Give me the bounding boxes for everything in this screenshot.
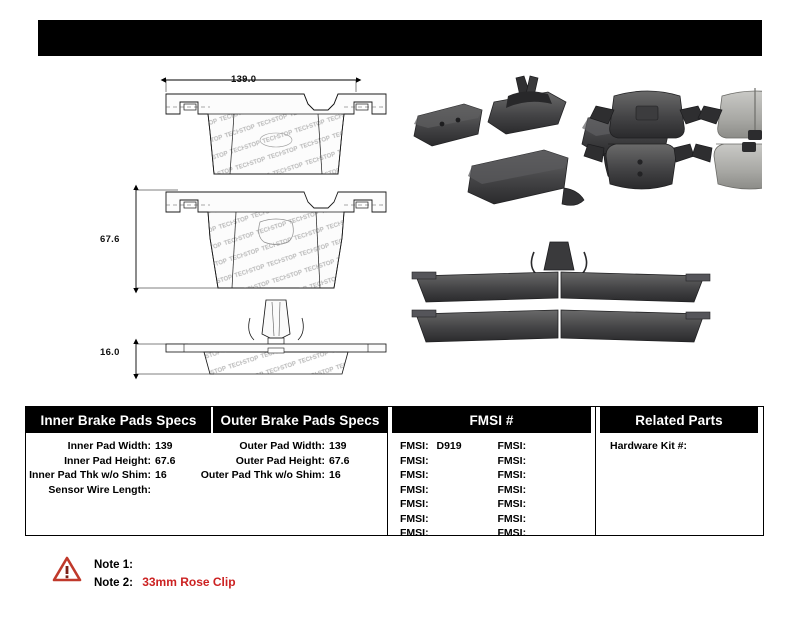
- spec-label: Inner Pad Height:: [64, 454, 151, 469]
- fmsi-row: FMSI:: [400, 468, 498, 483]
- fmsi-label: FMSI:: [400, 440, 429, 452]
- spec-label: Inner Pad Width:: [68, 439, 151, 454]
- spec-row: Outer Pad Height: 67.6: [213, 454, 387, 469]
- fmsi-value: [526, 527, 531, 539]
- fmsi-label: FMSI:: [498, 498, 527, 510]
- brake-pad-blueprint-svg: STOP TECH: [38, 62, 398, 392]
- product-type: Brake Pad: [675, 29, 750, 47]
- fmsi-row: FMSI:: [498, 439, 596, 454]
- outer-specs-header: Outer Brake Pads Specs: [213, 407, 387, 433]
- note-value: 33mm Rose Clip: [136, 575, 235, 589]
- fmsi-label: FMSI:: [400, 498, 429, 510]
- fmsi-row: FMSI:: [498, 468, 596, 483]
- fmsi-subcolumn-2: FMSI: FMSI: FMSI: FMSI: FMSI:: [498, 439, 596, 541]
- spec-row: Inner Pad Width: 139: [26, 439, 213, 454]
- note-label: Note 1:: [94, 559, 133, 571]
- dimension-height-label: 67.6: [100, 234, 120, 245]
- related-part-row: Hardware Kit #:: [610, 439, 762, 454]
- product-photos: [398, 62, 762, 392]
- related-parts-header: Related Parts: [600, 407, 758, 433]
- fmsi-row: FMSI:: [400, 526, 498, 541]
- fmsi-label: FMSI:: [400, 484, 429, 496]
- fmsi-label: FMSI:: [400, 469, 429, 481]
- fmsi-subcolumn-1: FMSI: D919 FMSI: FMSI: FMSI: FMSI:: [400, 439, 498, 541]
- specifications-table: Inner Brake Pads Specs Inner Pad Width: …: [25, 406, 764, 536]
- fmsi-label: FMSI:: [400, 527, 429, 539]
- spec-label: Sensor Wire Length:: [48, 483, 151, 498]
- related-part-label: Hardware Kit #:: [610, 440, 687, 452]
- spec-value: 67.6: [325, 454, 351, 469]
- fmsi-grid: FMSI: D919 FMSI: FMSI: FMSI: FMSI:: [388, 433, 595, 541]
- warning-triangle-icon: [52, 554, 82, 584]
- spec-value: 139: [325, 439, 351, 454]
- outer-specs-body: Outer Pad Width: 139 Outer Pad Height: 6…: [213, 433, 387, 483]
- fmsi-value: [526, 455, 531, 467]
- spec-row: Inner Pad Thk w/o Shim: 16: [26, 468, 213, 483]
- product-photos-svg: [398, 62, 762, 392]
- fmsi-row: FMSI:: [400, 483, 498, 498]
- spec-value: [151, 483, 177, 498]
- wear-sensor-clip: [249, 300, 304, 344]
- title-bar: 309.09190 Brake Pad: [38, 20, 762, 56]
- fmsi-value: [429, 513, 434, 525]
- spec-row: Inner Pad Height: 67.6: [26, 454, 213, 469]
- note-value: [133, 557, 139, 571]
- fmsi-value: [429, 484, 434, 496]
- spec-value: 16: [151, 468, 177, 483]
- fmsi-label: FMSI:: [498, 455, 527, 467]
- spec-value: 139: [151, 439, 177, 454]
- fmsi-row: FMSI:: [498, 497, 596, 512]
- notes-section: Note 1: Note 2: 33mm Rose Clip: [52, 554, 236, 592]
- note-label: Note 2:: [94, 577, 133, 589]
- fmsi-value: [526, 513, 531, 525]
- dimension-width-label: 139.0: [231, 74, 256, 85]
- fmsi-label: FMSI:: [498, 469, 527, 481]
- spec-row: Sensor Wire Length:: [26, 483, 213, 498]
- note-row-2: Note 2: 33mm Rose Clip: [94, 574, 236, 592]
- fmsi-value: [429, 498, 434, 510]
- inner-specs-column: Inner Brake Pads Specs Inner Pad Width: …: [26, 407, 213, 535]
- fmsi-row: FMSI:: [400, 512, 498, 527]
- fmsi-label: FMSI:: [498, 484, 527, 496]
- pad-top-view: [166, 80, 386, 174]
- dimension-thickness-label: 16.0: [100, 347, 120, 358]
- fmsi-value: [429, 527, 434, 539]
- note-lines: Note 1: Note 2: 33mm Rose Clip: [94, 554, 236, 592]
- fmsi-value: [429, 469, 434, 481]
- fmsi-value: [526, 440, 531, 452]
- spec-value: 67.6: [151, 454, 177, 469]
- pad-edge-view: [136, 344, 386, 374]
- inner-specs-header: Inner Brake Pads Specs: [26, 407, 213, 433]
- spec-label: Outer Pad Width:: [239, 439, 325, 454]
- related-parts-column: Related Parts Hardware Kit #:: [596, 407, 762, 535]
- outer-specs-column: Outer Brake Pads Specs Outer Pad Width: …: [213, 407, 388, 535]
- fmsi-label: FMSI:: [400, 455, 429, 467]
- fmsi-label: FMSI:: [498, 440, 527, 452]
- fmsi-row: FMSI:: [400, 454, 498, 469]
- drawing-area: STOP TECH: [38, 62, 762, 392]
- part-number: 309.09190: [52, 29, 128, 47]
- note-row-1: Note 1:: [94, 556, 236, 574]
- related-part-value: [687, 440, 692, 452]
- pad-front-view: [136, 190, 386, 288]
- fmsi-column: FMSI # FMSI: D919 FMSI: FMSI: FMSI:: [388, 407, 596, 535]
- fmsi-value: D919: [432, 440, 462, 452]
- fmsi-row: FMSI:: [400, 497, 498, 512]
- spec-value: 16: [325, 468, 351, 483]
- fmsi-label: FMSI:: [498, 513, 527, 525]
- spec-row: Outer Pad Width: 139: [213, 439, 387, 454]
- fmsi-row: FMSI:: [498, 454, 596, 469]
- spec-label: Outer Pad Thk w/o Shim:: [201, 468, 325, 483]
- fmsi-value: [429, 455, 434, 467]
- fmsi-row: FMSI: D919: [400, 439, 498, 454]
- inner-specs-body: Inner Pad Width: 139 Inner Pad Height: 6…: [26, 433, 213, 497]
- technical-drawings: STOP TECH: [38, 62, 398, 392]
- fmsi-label: FMSI:: [498, 527, 527, 539]
- spec-label: Outer Pad Height:: [236, 454, 325, 469]
- fmsi-row: FMSI:: [498, 526, 596, 541]
- spec-row: Outer Pad Thk w/o Shim: 16: [213, 468, 387, 483]
- fmsi-value: [526, 469, 531, 481]
- fmsi-value: [526, 498, 531, 510]
- fmsi-row: FMSI:: [498, 483, 596, 498]
- edge-pads-photo: [412, 242, 710, 342]
- related-parts-body: Hardware Kit #:: [596, 433, 762, 454]
- fmsi-row: FMSI:: [498, 512, 596, 527]
- spec-label: Inner Pad Thk w/o Shim:: [29, 468, 151, 483]
- fmsi-value: [526, 484, 531, 496]
- fmsi-label: FMSI:: [400, 513, 429, 525]
- fmsi-header: FMSI #: [392, 407, 591, 433]
